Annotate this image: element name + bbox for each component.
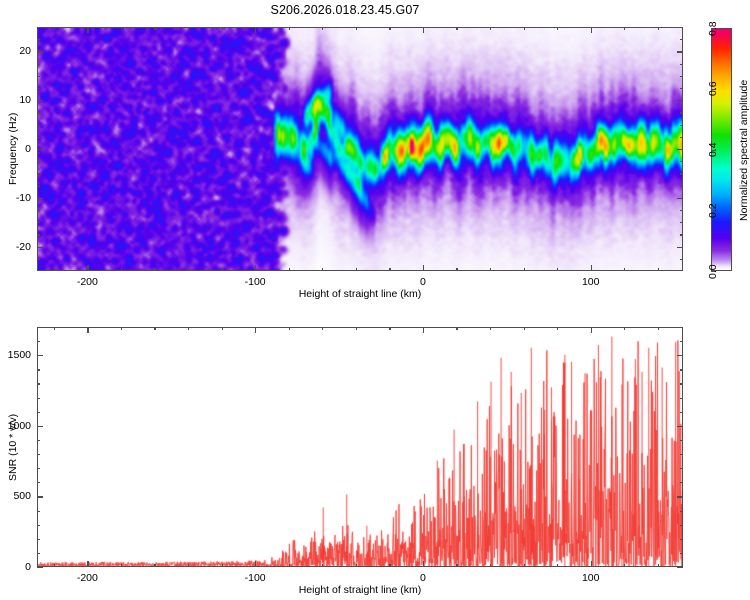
y-minor-tick xyxy=(37,210,40,211)
x-tick xyxy=(87,27,88,33)
x-minor-tick xyxy=(356,564,357,567)
x-tick xyxy=(423,327,424,333)
y-minor-tick xyxy=(37,440,40,441)
x-minor-tick xyxy=(289,564,290,567)
y-minor-tick xyxy=(680,412,683,413)
x-minor-tick xyxy=(389,564,390,567)
y-minor-tick xyxy=(37,341,40,342)
x-minor-tick xyxy=(188,27,189,30)
x-minor-tick xyxy=(557,327,558,330)
y-tick-label: 1500 xyxy=(0,349,31,361)
y-minor-tick xyxy=(37,454,40,455)
figure-title: S206.2026.018.23.45.G07 xyxy=(0,3,690,17)
x-minor-tick xyxy=(322,27,323,30)
x-minor-tick xyxy=(54,268,55,271)
y-tick xyxy=(677,100,683,101)
y-minor-tick xyxy=(680,482,683,483)
y-minor-tick xyxy=(37,234,40,235)
y-minor-tick xyxy=(37,412,40,413)
y-tick xyxy=(37,567,43,568)
x-minor-tick xyxy=(456,27,457,30)
y-minor-tick xyxy=(680,76,683,77)
y-tick xyxy=(37,100,43,101)
y-minor-tick xyxy=(37,383,40,384)
y-tick-label: 20 xyxy=(0,45,31,57)
x-minor-tick xyxy=(154,268,155,271)
x-minor-tick xyxy=(121,268,122,271)
y-minor-tick xyxy=(37,112,40,113)
spectrogram-panel xyxy=(37,27,683,271)
figure-root: S206.2026.018.23.45.G07 -200-1000100-20-… xyxy=(0,0,750,600)
x-tick xyxy=(255,27,256,33)
x-minor-tick xyxy=(356,268,357,271)
y-minor-tick xyxy=(37,482,40,483)
x-tick-label: 0 xyxy=(420,572,426,584)
y-minor-tick xyxy=(680,511,683,512)
y-minor-tick xyxy=(37,76,40,77)
colorbar-tick-label: 0.8 xyxy=(707,21,719,36)
x-minor-tick xyxy=(524,268,525,271)
y-minor-tick xyxy=(680,39,683,40)
y-tick xyxy=(37,247,43,248)
x-tick xyxy=(255,327,256,333)
y-minor-tick xyxy=(680,112,683,113)
colorbar-tick-label: 0.0 xyxy=(707,264,719,279)
x-minor-tick xyxy=(121,327,122,330)
y-minor-tick xyxy=(680,369,683,370)
x-minor-tick xyxy=(389,27,390,30)
x-minor-tick xyxy=(54,327,55,330)
x-minor-tick xyxy=(322,564,323,567)
x-minor-tick xyxy=(54,27,55,30)
y-minor-tick xyxy=(680,383,683,384)
y-minor-tick xyxy=(37,137,40,138)
y-tick-label: -20 xyxy=(0,241,31,253)
colorbar-tick-label: 0.2 xyxy=(707,203,719,218)
x-minor-tick xyxy=(624,268,625,271)
snr-panel xyxy=(37,327,683,567)
y-tick xyxy=(677,355,683,356)
y-minor-tick xyxy=(680,125,683,126)
y-tick-label: 0 xyxy=(0,561,31,573)
x-minor-tick xyxy=(322,268,323,271)
y-minor-tick xyxy=(37,525,40,526)
y-tick xyxy=(37,51,43,52)
x-minor-tick xyxy=(490,27,491,30)
x-minor-tick xyxy=(557,268,558,271)
y-minor-tick xyxy=(680,64,683,65)
y-tick xyxy=(37,496,43,497)
x-minor-tick xyxy=(658,564,659,567)
y-minor-tick xyxy=(37,369,40,370)
x-minor-tick xyxy=(188,268,189,271)
x-minor-tick xyxy=(456,564,457,567)
x-tick-label: -200 xyxy=(77,572,98,584)
y-minor-tick xyxy=(680,539,683,540)
y-minor-tick xyxy=(37,259,40,260)
x-tick xyxy=(423,27,424,33)
y-tick xyxy=(677,426,683,427)
x-tick-label: 0 xyxy=(420,276,426,288)
x-minor-tick xyxy=(289,327,290,330)
x-minor-tick xyxy=(658,327,659,330)
spectrogram-x-axis-label: Height of straight line (km) xyxy=(299,288,422,300)
y-tick-label: 500 xyxy=(0,490,31,502)
y-minor-tick xyxy=(680,454,683,455)
x-tick-label: 100 xyxy=(582,276,600,288)
y-tick xyxy=(37,426,43,427)
x-tick xyxy=(591,27,592,33)
x-minor-tick xyxy=(154,27,155,30)
y-minor-tick xyxy=(680,553,683,554)
y-tick xyxy=(677,567,683,568)
x-minor-tick xyxy=(658,27,659,30)
x-minor-tick xyxy=(389,327,390,330)
y-tick-label: 10 xyxy=(0,94,31,106)
y-tick xyxy=(677,51,683,52)
y-minor-tick xyxy=(680,468,683,469)
x-tick xyxy=(255,561,256,567)
x-minor-tick xyxy=(490,268,491,271)
spectrogram-image xyxy=(38,28,682,270)
y-minor-tick xyxy=(37,186,40,187)
x-minor-tick xyxy=(289,268,290,271)
x-tick xyxy=(87,327,88,333)
y-minor-tick xyxy=(680,88,683,89)
x-tick-label: 100 xyxy=(582,572,600,584)
colorbar-tick-label: 0.6 xyxy=(707,82,719,97)
x-minor-tick xyxy=(490,327,491,330)
x-minor-tick xyxy=(222,327,223,330)
y-minor-tick xyxy=(37,553,40,554)
x-minor-tick xyxy=(54,564,55,567)
y-minor-tick xyxy=(37,222,40,223)
x-minor-tick xyxy=(154,564,155,567)
x-tick xyxy=(87,265,88,271)
snr-plot-area xyxy=(38,328,682,566)
y-tick xyxy=(37,355,43,356)
x-tick xyxy=(591,265,592,271)
y-minor-tick xyxy=(680,137,683,138)
y-minor-tick xyxy=(680,186,683,187)
y-minor-tick xyxy=(680,525,683,526)
y-minor-tick xyxy=(680,210,683,211)
x-minor-tick xyxy=(322,327,323,330)
y-tick xyxy=(677,149,683,150)
spectrogram-y-axis-label: Frequency (Hz) xyxy=(7,113,19,185)
x-minor-tick xyxy=(222,564,223,567)
x-minor-tick xyxy=(456,327,457,330)
x-minor-tick xyxy=(222,27,223,30)
x-minor-tick xyxy=(456,268,457,271)
y-minor-tick xyxy=(37,88,40,89)
x-minor-tick xyxy=(557,27,558,30)
x-minor-tick xyxy=(624,27,625,30)
x-minor-tick xyxy=(121,564,122,567)
x-minor-tick xyxy=(188,564,189,567)
x-tick xyxy=(87,561,88,567)
y-minor-tick xyxy=(37,511,40,512)
x-tick xyxy=(423,265,424,271)
x-tick xyxy=(255,265,256,271)
y-minor-tick xyxy=(680,398,683,399)
x-minor-tick xyxy=(356,327,357,330)
x-minor-tick xyxy=(222,268,223,271)
y-minor-tick xyxy=(37,173,40,174)
y-minor-tick xyxy=(37,39,40,40)
y-minor-tick xyxy=(37,161,40,162)
x-tick xyxy=(591,327,592,333)
y-minor-tick xyxy=(37,64,40,65)
x-tick-label: -100 xyxy=(245,572,266,584)
x-minor-tick xyxy=(557,564,558,567)
snr-x-axis-label: Height of straight line (km) xyxy=(299,584,422,596)
y-minor-tick xyxy=(680,173,683,174)
x-minor-tick xyxy=(624,564,625,567)
colorbar-tick-label: 0.4 xyxy=(707,142,719,157)
y-minor-tick xyxy=(37,125,40,126)
y-minor-tick xyxy=(37,539,40,540)
colorbar-axis-label: Normalized spectral amplitude xyxy=(738,79,750,220)
x-minor-tick xyxy=(524,27,525,30)
x-minor-tick xyxy=(121,27,122,30)
y-tick xyxy=(677,198,683,199)
x-minor-tick xyxy=(624,327,625,330)
y-tick xyxy=(677,496,683,497)
y-minor-tick xyxy=(37,468,40,469)
y-minor-tick xyxy=(680,234,683,235)
x-minor-tick xyxy=(356,27,357,30)
x-tick xyxy=(591,561,592,567)
y-tick xyxy=(37,198,43,199)
x-minor-tick xyxy=(389,268,390,271)
x-minor-tick xyxy=(490,564,491,567)
snr-trace xyxy=(38,328,682,566)
x-tick-label: -100 xyxy=(245,276,266,288)
y-minor-tick xyxy=(680,161,683,162)
spectrogram-plot-area xyxy=(38,28,682,270)
x-minor-tick xyxy=(289,27,290,30)
y-minor-tick xyxy=(37,398,40,399)
y-minor-tick xyxy=(680,222,683,223)
y-minor-tick xyxy=(680,440,683,441)
y-tick xyxy=(37,149,43,150)
y-tick-label: -10 xyxy=(0,192,31,204)
x-minor-tick xyxy=(188,327,189,330)
y-tick xyxy=(677,247,683,248)
x-minor-tick xyxy=(154,327,155,330)
x-tick xyxy=(423,561,424,567)
y-minor-tick xyxy=(680,259,683,260)
x-minor-tick xyxy=(658,268,659,271)
y-minor-tick xyxy=(680,341,683,342)
x-tick-label: -200 xyxy=(77,276,98,288)
snr-y-axis-label: SNR (10 * v/v) xyxy=(7,413,19,480)
x-minor-tick xyxy=(524,327,525,330)
x-minor-tick xyxy=(524,564,525,567)
